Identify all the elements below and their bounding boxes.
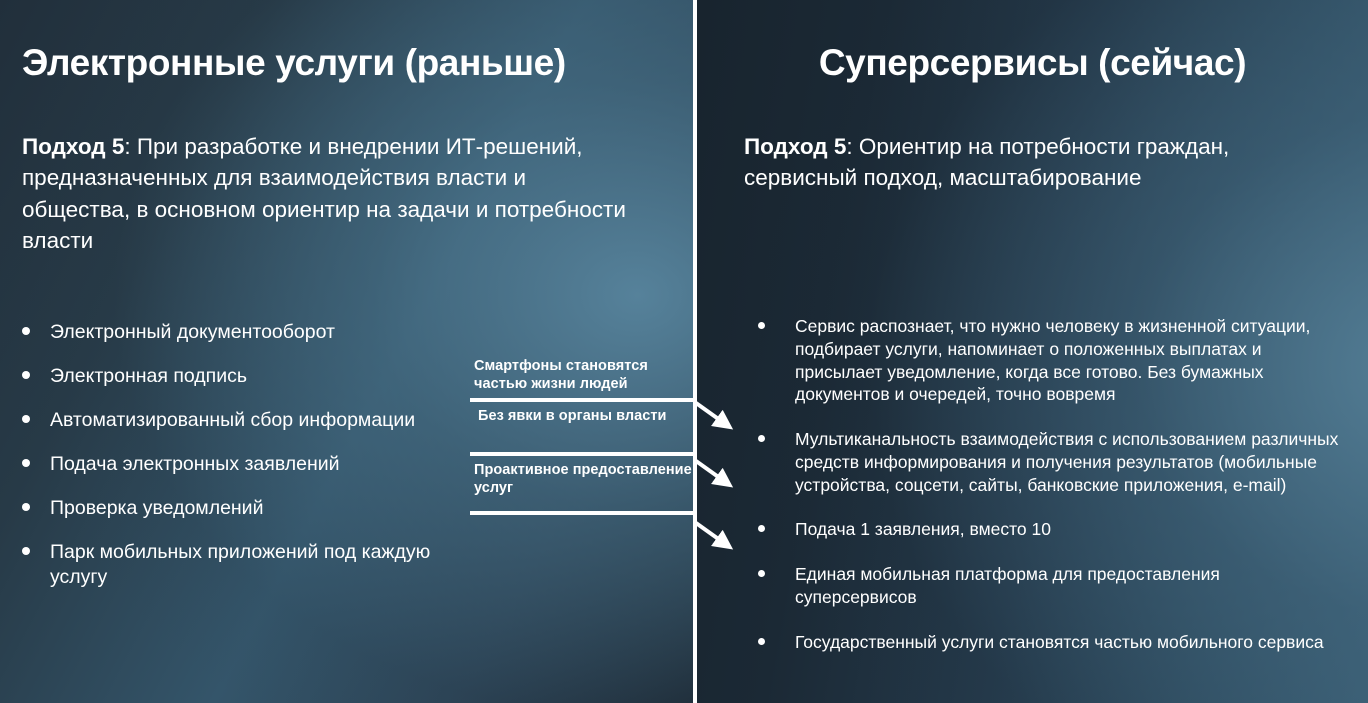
callout-divider-rule — [470, 511, 693, 515]
bullet-dot-icon — [22, 371, 30, 379]
list-item-label: Электронная подпись — [50, 364, 490, 389]
callout-stack: Смартфоны становятся частью жизни людей … — [470, 352, 693, 515]
list-item-label: Подача 1 заявления, вместо 10 — [795, 518, 1346, 541]
slide-root: Электронные услуги (раньше) Подход 5: Пр… — [0, 0, 1368, 703]
list-item-label: Проверка уведомлений — [50, 496, 490, 521]
list-item-label: Электронный документооборот — [50, 320, 490, 345]
bullet-dot-icon — [758, 525, 765, 532]
list-item: Проверка уведомлений — [20, 496, 490, 521]
bullet-dot-icon — [758, 435, 765, 442]
list-item: Подача 1 заявления, вместо 10 — [758, 518, 1346, 541]
callout-no-visit: Без явки в органы власти — [470, 402, 693, 452]
bullet-dot-icon — [22, 547, 30, 555]
list-item: Электронный документооборот — [20, 320, 490, 345]
list-item-label: Автоматизированный сбор информации — [50, 408, 490, 433]
list-item: Парк мобильных приложений под каждую усл… — [20, 540, 490, 590]
list-item-label: Государственный услуги становятся частью… — [795, 631, 1346, 654]
list-item-label: Единая мобильная платформа для предостав… — [795, 563, 1346, 609]
list-item: Государственный услуги становятся частью… — [758, 631, 1346, 654]
bullet-dot-icon — [758, 638, 765, 645]
bullet-dot-icon — [758, 570, 765, 577]
right-panel-bullet-list: Сервис распознает, что нужно человеку в … — [758, 315, 1346, 675]
list-item: Единая мобильная платформа для предостав… — [758, 563, 1346, 609]
bullet-dot-icon — [22, 327, 30, 335]
left-panel-intro-label: Подход 5 — [22, 134, 124, 159]
bullet-dot-icon — [22, 415, 30, 423]
panel-electronic-services: Электронные услуги (раньше) Подход 5: Пр… — [0, 0, 693, 703]
list-item-label: Подача электронных заявлений — [50, 452, 490, 477]
list-item-label: Парк мобильных приложений под каждую усл… — [50, 540, 490, 590]
left-panel-title: Электронные услуги (раньше) — [22, 43, 566, 84]
list-item-label: Мультиканальность взаимодействия с испол… — [795, 428, 1346, 496]
list-item: Автоматизированный сбор информации — [20, 408, 490, 433]
left-panel-intro: Подход 5: При разработке и внедрении ИТ-… — [22, 131, 632, 257]
callout-proactive: Проактивное предоставление услуг — [470, 456, 693, 511]
list-item: Подача электронных заявлений — [20, 452, 490, 477]
list-item-label: Сервис распознает, что нужно человеку в … — [795, 315, 1346, 406]
callout-smartphones: Смартфоны становятся частью жизни людей — [470, 352, 693, 398]
list-item: Сервис распознает, что нужно человеку в … — [758, 315, 1346, 406]
left-panel-bullet-list: Электронный документооборот Электронная … — [20, 320, 490, 609]
right-panel-intro: Подход 5: Ориентир на потребности гражда… — [744, 131, 1344, 194]
bullet-dot-icon — [758, 322, 765, 329]
list-item: Электронная подпись — [20, 364, 490, 389]
bullet-dot-icon — [22, 459, 30, 467]
right-panel-intro-label: Подход 5 — [744, 134, 846, 159]
bullet-dot-icon — [22, 503, 30, 511]
right-panel-title: Суперсервисы (сейчас) — [697, 43, 1368, 84]
list-item: Мультиканальность взаимодействия с испол… — [758, 428, 1346, 496]
